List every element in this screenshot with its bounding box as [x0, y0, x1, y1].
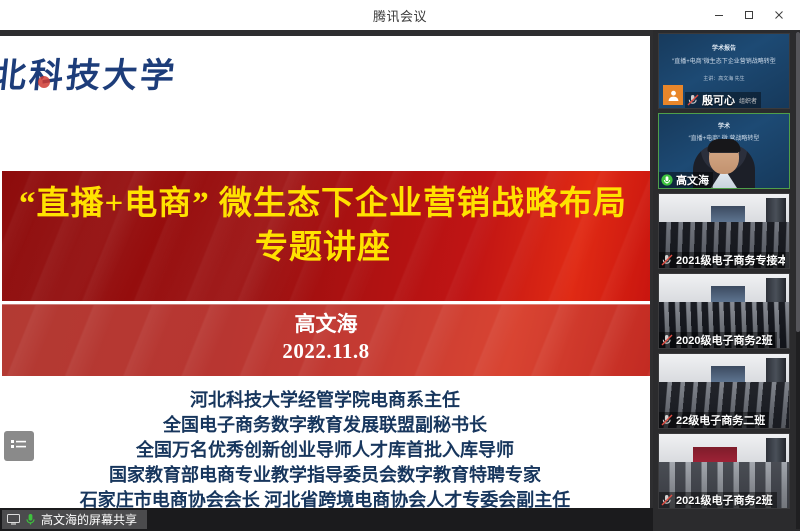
slide-title-line2: 专题讲座	[2, 226, 650, 270]
participant-name: 22级电子商务二班	[676, 412, 765, 428]
preview-heading: 学术报告	[659, 43, 789, 52]
participant-name: 2021级电子商务专接本...	[676, 252, 785, 268]
microphone-muted-icon	[687, 94, 699, 106]
slide-title-banner: “直播+电商” 微生态下企业营销战略布局 专题讲座	[2, 171, 650, 301]
minimize-button[interactable]	[704, 2, 734, 28]
participant-name: 殷可心	[702, 92, 735, 108]
window-controls	[704, 0, 794, 30]
screen-share-icon	[7, 514, 20, 525]
slide-speaker-band: 高文海 2022.11.8	[2, 304, 650, 376]
participant-sidebar[interactable]: 学术报告 “直播+电商”微生态下企业营销战略转型 主讲：高文海 先生	[653, 30, 800, 531]
preview-heading: 学术	[659, 121, 789, 130]
microphone-muted-icon	[661, 414, 673, 426]
shared-screen-stage[interactable]: 北科技大学 “直播+电商” 微生态下企业营销战略布局 专题讲座 高文海 2022…	[0, 30, 653, 531]
university-logo: 北科技大学	[0, 50, 182, 110]
university-logo-text: 北科技大学	[0, 58, 179, 95]
participant-label: 殷可心 组织者	[685, 92, 761, 108]
glasses-icon	[710, 152, 738, 158]
participant-label: 高文海	[659, 172, 713, 188]
participant-thumbnail[interactable]: 2020级电子商务2班	[658, 273, 790, 349]
credential-line: 国家教育部电商专业教学指导委员会数字教育特聘专家	[0, 463, 650, 488]
participant-name: 2021级电子商务2班	[676, 492, 773, 508]
participant-list-scrollbar[interactable]	[796, 32, 800, 529]
slide-menu-button[interactable]	[4, 431, 34, 461]
slide-date: 2022.11.8	[2, 338, 650, 365]
credential-line: 河北科技大学经管学院电商系主任	[0, 388, 650, 413]
title-bar: 腾讯会议	[0, 0, 800, 30]
participant-name: 高文海	[676, 172, 709, 188]
credential-line: 全国万名优秀创新创业导师人才库首批入库导师	[0, 438, 650, 463]
tencent-meeting-window: 腾讯会议 北科技大学	[0, 0, 800, 531]
presenter-hair	[708, 139, 741, 152]
preview-byline: 主讲：高文海 先生	[659, 75, 789, 82]
screen-share-label: 高文海的屏幕共享	[41, 511, 137, 528]
participant-label: 2021级电子商务2班	[659, 492, 777, 508]
avatar	[663, 85, 683, 105]
credential-line: 全国电子商务数字教育发展联盟副秘书长	[0, 413, 650, 438]
logo-seal-dot	[38, 76, 50, 88]
participant-thumbnail[interactable]: 2021级电子商务2班	[658, 433, 790, 509]
microphone-on-icon	[661, 174, 673, 186]
window-title: 腾讯会议	[373, 6, 427, 25]
minimize-icon	[713, 9, 725, 21]
participant-label: 2021级电子商务专接本...	[659, 252, 789, 268]
close-button[interactable]	[764, 2, 794, 28]
screen-share-status-bar: 高文海的屏幕共享	[0, 508, 653, 531]
screen-share-chip[interactable]: 高文海的屏幕共享	[2, 510, 147, 529]
slide-speaker-name: 高文海	[2, 305, 650, 338]
close-icon	[773, 9, 785, 21]
maximize-button[interactable]	[734, 2, 764, 28]
microphone-muted-icon	[661, 334, 673, 346]
microphone-on-icon	[25, 513, 36, 526]
microphone-muted-icon	[661, 254, 673, 266]
participant-thumbnail[interactable]: 学术 “直播+电商” 微 营战略转型 主讲	[658, 113, 790, 189]
presentation-slide: 北科技大学 “直播+电商” 微生态下企业营销战略布局 专题讲座 高文海 2022…	[0, 36, 650, 514]
maximize-icon	[743, 9, 755, 21]
participant-role-badge: 组织者	[739, 96, 757, 105]
slide-menu-icon	[10, 439, 28, 453]
slide-title-line1: “直播+电商” 微生态下企业营销战略布局	[19, 186, 627, 222]
participant-thumbnail[interactable]: 学术报告 “直播+电商”微生态下企业营销战略转型 主讲：高文海 先生	[658, 33, 790, 109]
microphone-muted-icon	[661, 494, 673, 506]
participant-label: 22级电子商务二班	[659, 412, 769, 428]
participant-name: 2020级电子商务2班	[676, 332, 773, 348]
scrollbar-thumb[interactable]	[796, 32, 800, 332]
preview-subtitle: “直播+电商”微生态下企业营销战略转型	[663, 56, 785, 65]
participant-thumbnail[interactable]: 22级电子商务二班	[658, 353, 790, 429]
slide-credentials: 河北科技大学经管学院电商系主任 全国电子商务数字教育发展联盟副秘书长 全国万名优…	[0, 388, 650, 513]
participant-label: 2020级电子商务2班	[659, 332, 777, 348]
participant-thumbnail[interactable]: 2021级电子商务专接本...	[658, 193, 790, 269]
